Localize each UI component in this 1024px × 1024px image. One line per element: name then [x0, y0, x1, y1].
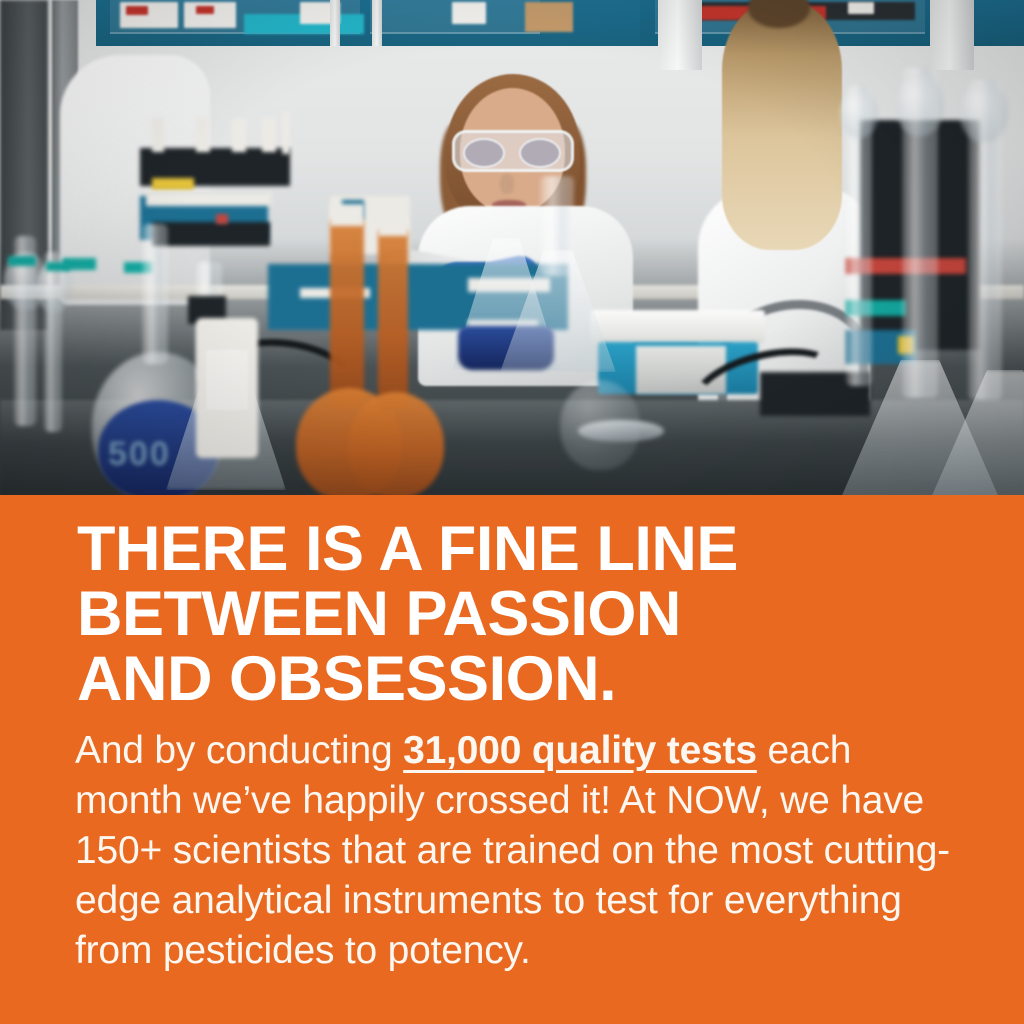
- pipette-teal-band-2: [46, 262, 70, 271]
- instrument-panel-white: [146, 192, 272, 206]
- analytical-balance-top: [590, 310, 765, 344]
- amber-flask-1-stopper: [330, 204, 364, 226]
- body-paragraph: And by conducting 31,000 quality tests e…: [75, 726, 955, 976]
- amber-flask-2-neck: [378, 228, 408, 410]
- amber-flask-2-stopper: [378, 216, 408, 236]
- nose: [500, 174, 514, 194]
- instrument-tube-4: [262, 118, 276, 152]
- cabinet-cardboard-box: [525, 2, 573, 32]
- instrument-tube-1: [152, 118, 164, 152]
- blonde-hair: [722, 0, 842, 250]
- cabinet-divider-1: [330, 0, 340, 46]
- headline-line-1: THERE IS A FINE LINE: [77, 517, 977, 582]
- cabinet-box-red-2: [196, 6, 214, 14]
- amber-flask-1-neck: [330, 218, 364, 408]
- flask-500-neck: [142, 224, 168, 364]
- marketing-poster: 500 THERE IS: [0, 0, 1024, 1024]
- pipette-teal-band-1: [8, 256, 36, 266]
- goggle-lens-right: [519, 138, 561, 168]
- instrument-yellow-strip: [152, 178, 194, 190]
- cabinet-bottle: [452, 2, 486, 24]
- amber-flask-2-bulb: [348, 392, 444, 495]
- wall-pillar-right: [930, 0, 974, 70]
- body-text-before: And by conducting: [75, 729, 403, 772]
- instrument-screen: [152, 222, 270, 246]
- reagent-bottle-label: [206, 350, 248, 410]
- tall-flask-2-stopper: [960, 82, 1008, 142]
- tall-flask-1-stopper: [896, 74, 944, 136]
- cabinet-divider-2: [372, 0, 382, 46]
- instrument-tube-2: [196, 118, 210, 152]
- tall-flask-3-stopper: [840, 90, 878, 138]
- page-title: THERE IS A FINE LINE BETWEEN PASSION AND…: [77, 517, 977, 712]
- goggle-lens-left: [463, 138, 505, 168]
- headline-line-3: AND OBSESSION.: [77, 647, 977, 712]
- orange-text-panel: THERE IS A FINE LINE BETWEEN PASSION AND…: [0, 495, 1024, 1024]
- headline-line-2: BETWEEN PASSION: [77, 582, 977, 647]
- safety-goggles: [452, 130, 574, 172]
- instrument-tube-5: [282, 112, 290, 154]
- laboratory-photo: 500: [0, 0, 1024, 495]
- body-emphasis-stat: 31,000 quality tests: [403, 729, 757, 772]
- cabinet-box-red-1: [126, 6, 148, 15]
- clear-flask-center-right: [560, 380, 640, 470]
- flask-volume-label: 500: [108, 435, 171, 474]
- instrument-indicator: [216, 214, 228, 224]
- instrument-tube-3: [232, 118, 246, 152]
